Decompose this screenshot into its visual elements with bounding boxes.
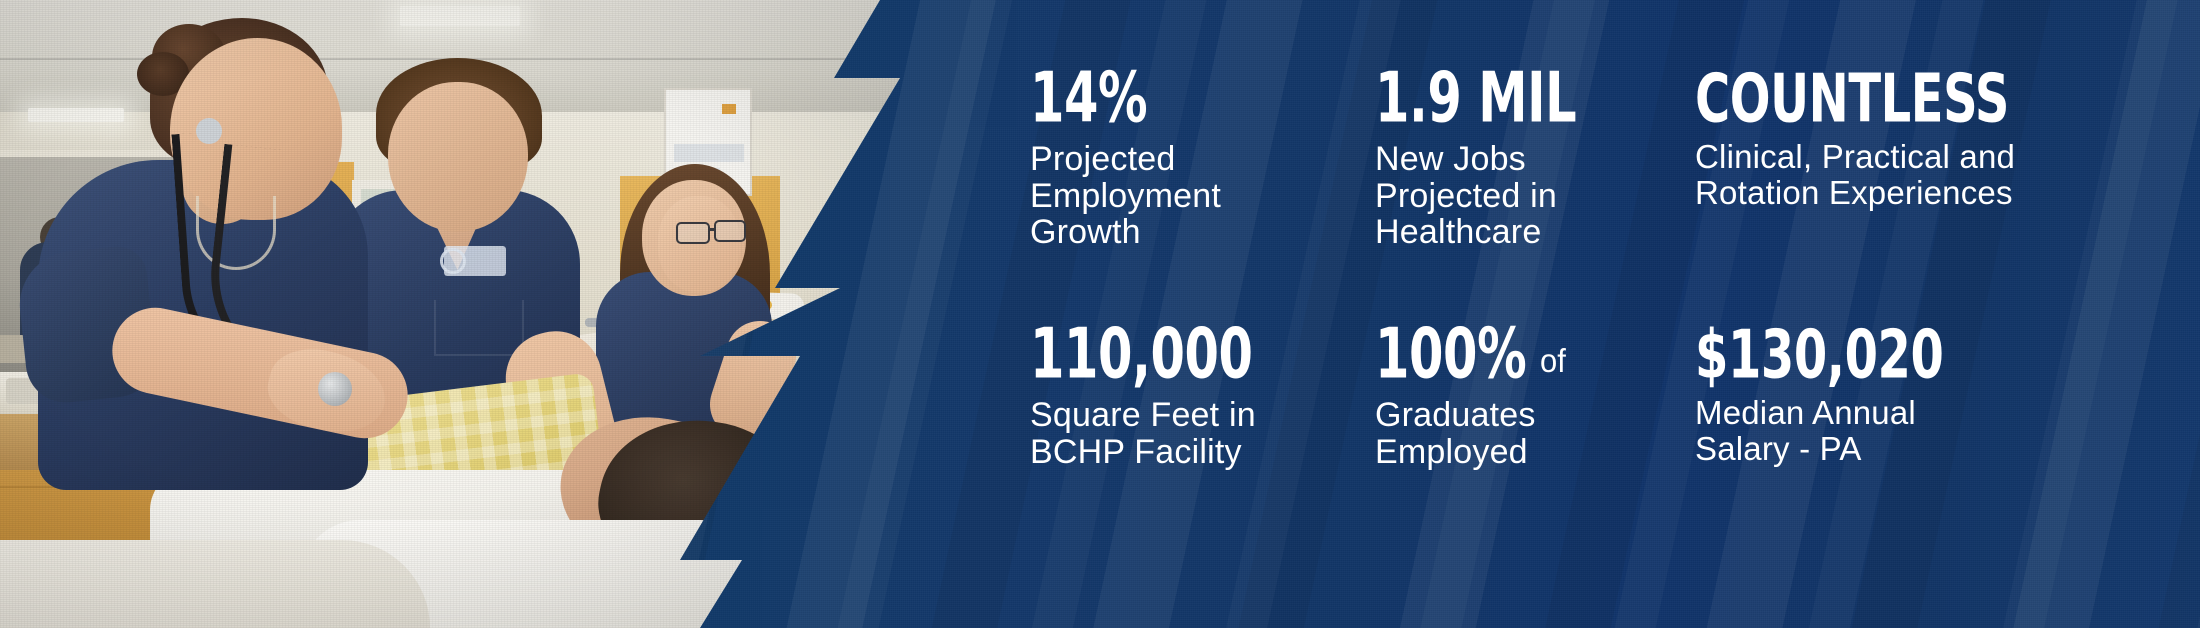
bed-blanket <box>0 540 430 628</box>
stat-new-jobs-healthcare: 1.9 MIL New Jobs Projected in Healthcare <box>1375 0 1695 251</box>
stat-label: Median Annual Salary - PA <box>1695 395 2200 466</box>
stat-label: Graduates Employed <box>1375 397 1695 470</box>
student-2-logo-seal-icon <box>440 248 466 274</box>
stat-number: $130,020 <box>1695 324 2129 386</box>
dispenser-slot <box>674 144 744 162</box>
dispenser-indicator <box>722 104 736 114</box>
stat-number: 1.9 MIL <box>1375 68 1650 132</box>
stat-label: Clinical, Practical and Rotation Experie… <box>1695 139 2200 210</box>
stat-square-feet-bchp: 110,000 Square Feet in BCHP Facility <box>1030 314 1375 470</box>
student-3-eyeglass-left <box>676 222 710 244</box>
stat-number-value: 100% <box>1375 315 1526 395</box>
ceiling-light-2 <box>400 6 520 26</box>
student-2-chest-pocket <box>434 300 524 356</box>
stat-number: COUNTLESS <box>1695 68 2129 130</box>
stat-number: 100%of <box>1375 324 1650 388</box>
student-3-eyeglass-bridge <box>709 228 716 231</box>
stat-label: New Jobs Projected in Healthcare <box>1375 141 1695 251</box>
stat-countless-experiences: COUNTLESS Clinical, Practical and Rotati… <box>1695 0 2200 210</box>
stethoscope-earpiece-icon <box>196 118 222 144</box>
ceiling-light-1 <box>28 108 124 122</box>
student-3-eyeglass-right <box>714 220 746 242</box>
statistics-grid: 14% Projected Employment Growth 1.9 MIL … <box>1030 0 2200 628</box>
stat-number-suffix: of <box>1540 346 1566 377</box>
stats-banner: 14% Projected Employment Growth 1.9 MIL … <box>0 0 2200 628</box>
stat-graduates-employed: 100%of Graduates Employed <box>1375 314 1695 470</box>
stat-median-annual-salary: $130,020 Median Annual Salary - PA <box>1695 314 2200 466</box>
stat-number: 110,000 <box>1030 324 1327 388</box>
stat-number: 14% <box>1030 68 1327 132</box>
stethoscope-chestpiece-icon <box>318 372 352 406</box>
stat-projected-employment-growth: 14% Projected Employment Growth <box>1030 0 1375 251</box>
stat-label: Projected Employment Growth <box>1030 141 1375 251</box>
stat-label: Square Feet in BCHP Facility <box>1030 397 1375 470</box>
student-2-head <box>388 82 528 232</box>
student-3-face <box>658 196 740 292</box>
